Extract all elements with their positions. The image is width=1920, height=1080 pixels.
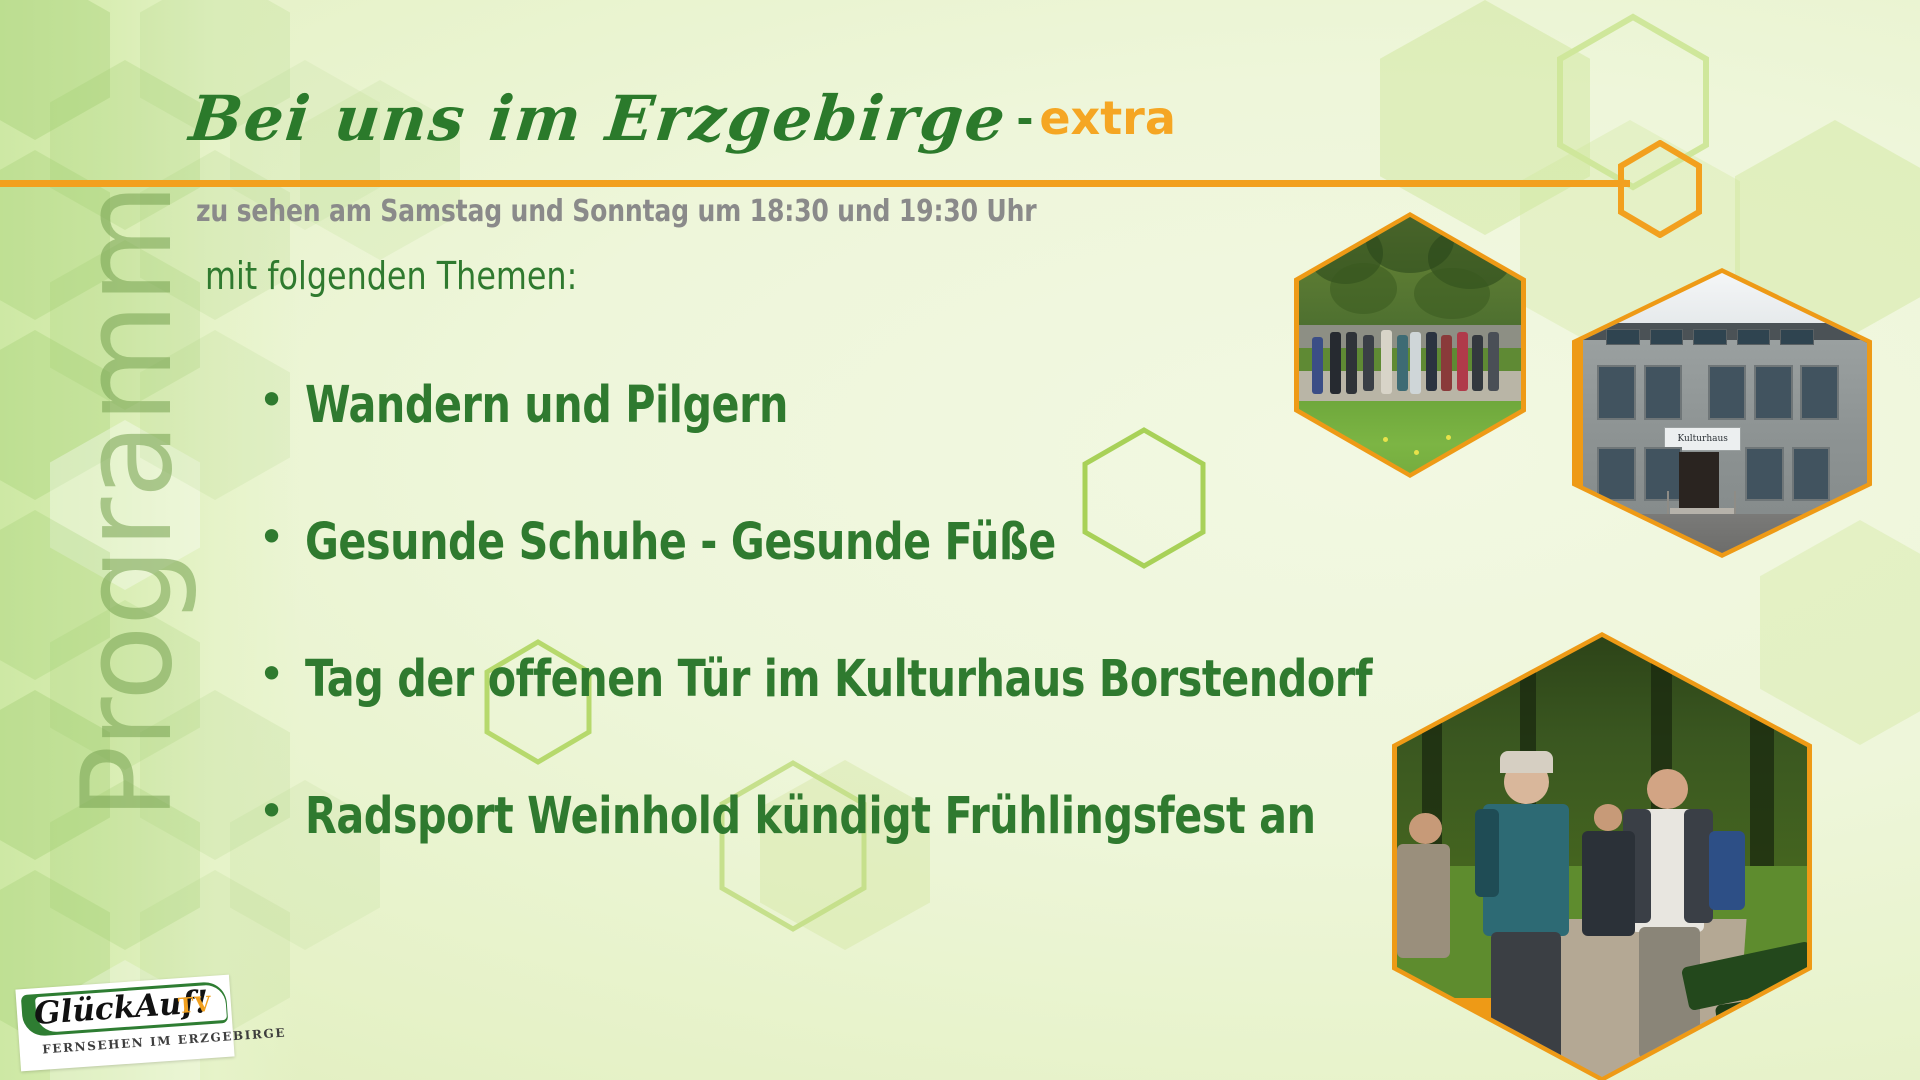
scene-clerestory-window xyxy=(1650,329,1684,345)
scene-hiker-backpack xyxy=(1475,809,1500,897)
scene-street xyxy=(1577,514,1867,553)
scene-hiker-backpack xyxy=(1709,831,1746,910)
bullet-icon: • xyxy=(258,517,285,558)
topic-label: Gesunde Schuhe - Gesunde Füße xyxy=(305,517,1056,568)
scene-window xyxy=(1644,447,1683,501)
list-item: • Wandern und Pilgern xyxy=(258,380,1408,431)
scene-shrub xyxy=(1414,268,1489,319)
list-item: • Tag der offenen Tür im Kulturhaus Bors… xyxy=(258,654,1408,705)
scene-hiker-body xyxy=(1397,844,1450,958)
bullet-icon: • xyxy=(258,380,285,421)
scene-hiker-head xyxy=(1647,769,1688,809)
slide-canvas: Programm Bei uns im Erzgebirge-extra zu … xyxy=(0,0,1920,1080)
scene-kulturhaus: Kulturhaus xyxy=(1577,273,1867,553)
scene-hiker xyxy=(1410,332,1421,393)
scene-meadow xyxy=(1299,401,1521,473)
programm-watermark: Programm xyxy=(56,184,200,820)
scene-flower xyxy=(1474,447,1479,452)
rule-end-hexagon-icon xyxy=(1617,140,1703,243)
scene-hiker xyxy=(1488,332,1499,391)
broadcast-times-subtitle: zu sehen am Samstag und Sonntag um 18:30… xyxy=(196,194,1036,229)
scene-hiker xyxy=(1330,332,1341,393)
photo-hikers-road xyxy=(1294,212,1526,478)
topic-label: Radsport Weinhold kündigt Frühlingsfest … xyxy=(305,791,1316,842)
bullet-icon: • xyxy=(258,654,285,695)
scene-hiker-head xyxy=(1594,804,1623,830)
scene-window xyxy=(1792,447,1831,501)
scene-entrance-door xyxy=(1679,452,1720,514)
scene-hiker xyxy=(1346,332,1357,393)
scene-window xyxy=(1708,365,1747,419)
scene-hiker-cap xyxy=(1500,751,1553,773)
scene-flower xyxy=(1446,435,1451,440)
scene-hiker-head xyxy=(1409,813,1442,844)
photo-kulturhaus: Kulturhaus xyxy=(1572,268,1872,558)
list-item: • Gesunde Schuhe - Gesunde Füße xyxy=(258,517,1408,568)
hexagon-photo-clip xyxy=(1397,637,1807,1077)
scene-hiker xyxy=(1426,332,1437,391)
scene-window xyxy=(1800,365,1839,419)
scene-hiker xyxy=(1312,337,1323,393)
scene-hikers-forest xyxy=(1397,637,1807,1077)
scene-hiker xyxy=(1397,335,1408,391)
scene-clerestory-window xyxy=(1693,329,1727,345)
scene-window xyxy=(1754,365,1793,419)
scene-window xyxy=(1597,365,1636,419)
scene-hiker xyxy=(1472,335,1483,391)
scene-hiker xyxy=(1457,332,1468,391)
scene-hiker-legs xyxy=(1491,932,1561,1064)
topics-intro-label: mit folgenden Themen: xyxy=(205,254,577,298)
topics-list: • Wandern und Pilgern • Gesunde Schuhe -… xyxy=(258,380,1408,928)
scene-tree-trunk xyxy=(1750,637,1775,892)
scene-window xyxy=(1644,365,1683,419)
topic-label: Wandern und Pilgern xyxy=(305,380,788,431)
scene-hikers-road xyxy=(1299,217,1521,473)
hexagon-photo-clip xyxy=(1299,217,1521,473)
glueckauf-tv-logo[interactable]: GlückAuf! TV FERNSEHEN IM ERZGEBIRGE xyxy=(18,982,232,1064)
title-script-text: Bei uns im Erzgebirge xyxy=(186,82,1010,155)
bullet-icon: • xyxy=(258,791,285,832)
photo-hikers-forest xyxy=(1392,632,1812,1080)
scene-window xyxy=(1745,447,1784,501)
scene-clerestory-window xyxy=(1737,329,1771,345)
title-extra-badge: extra xyxy=(1039,91,1176,145)
scene-shrub xyxy=(1330,263,1397,314)
scene-clerestory-window xyxy=(1606,329,1640,345)
scene-hiker xyxy=(1363,335,1374,391)
scene-hiker-body xyxy=(1582,831,1635,937)
title-dash: - xyxy=(1017,88,1034,146)
hexagon-photo-clip: Kulturhaus xyxy=(1577,273,1867,553)
list-item: • Radsport Weinhold kündigt Frühlingsfes… xyxy=(258,791,1408,842)
scene-flower xyxy=(1326,432,1331,437)
topic-label: Tag der offenen Tür im Kulturhaus Borste… xyxy=(305,654,1372,705)
scene-hiker xyxy=(1381,330,1392,394)
scene-window xyxy=(1597,447,1636,501)
logo-tv-text: TV xyxy=(177,991,213,1018)
title-underline-rule xyxy=(0,180,1630,187)
page-title: Bei uns im Erzgebirge-extra xyxy=(190,82,1176,155)
scene-hiker xyxy=(1441,335,1452,391)
scene-clerestory-window xyxy=(1780,329,1814,345)
